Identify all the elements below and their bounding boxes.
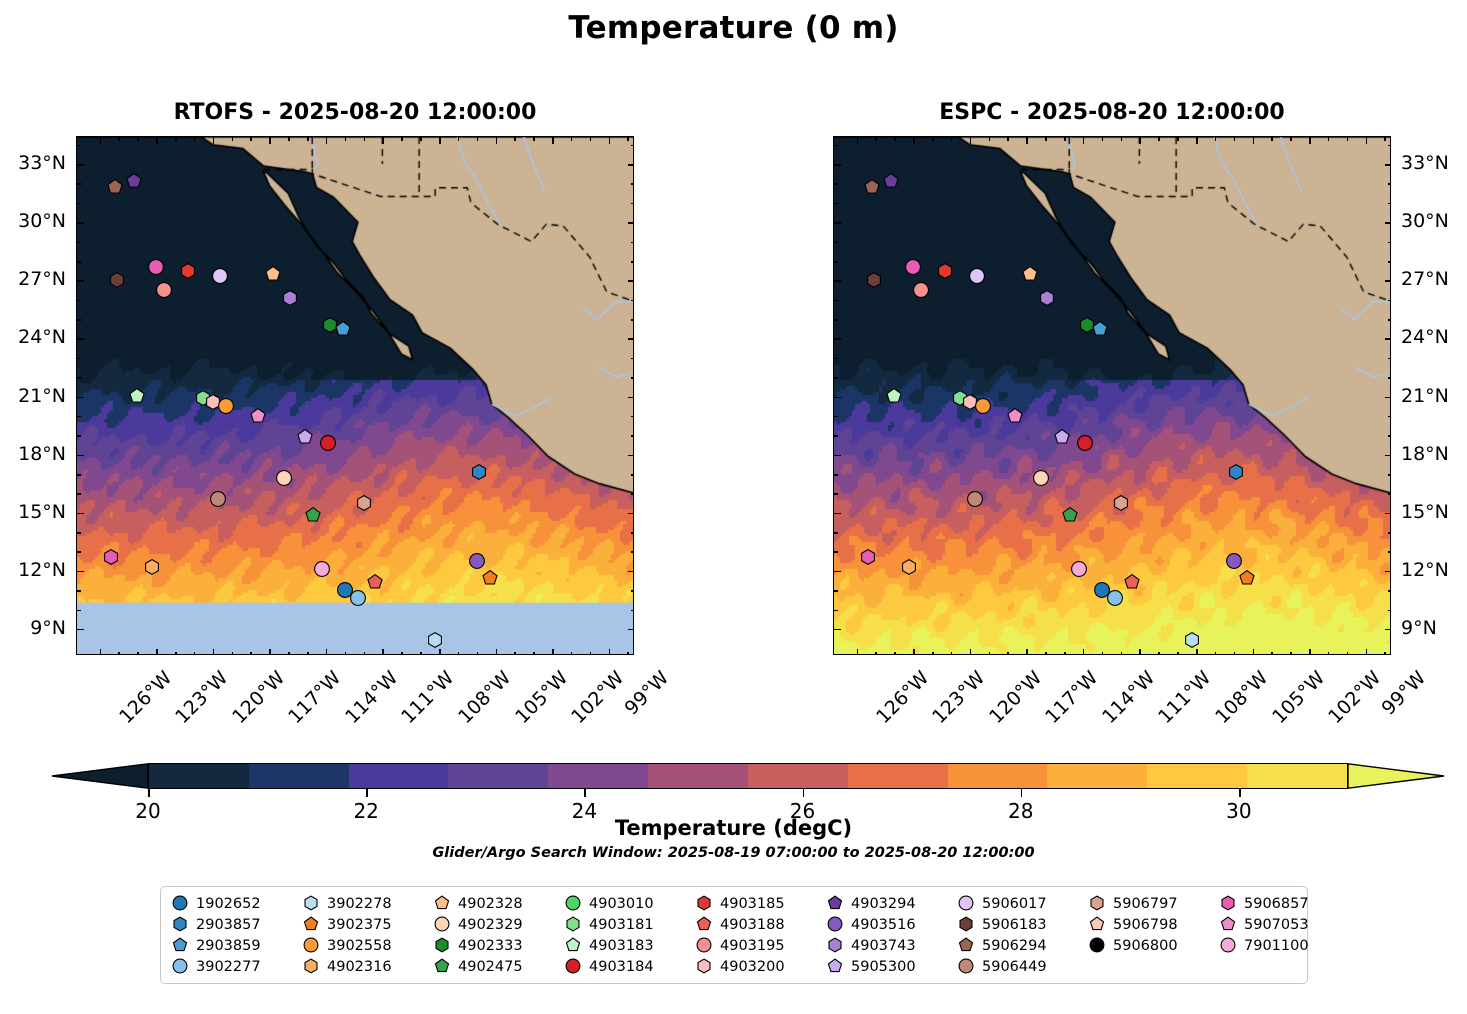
axis-tick <box>77 183 81 185</box>
axis-tick <box>77 280 84 282</box>
platform-marker[interactable] <box>1112 494 1129 515</box>
platform-marker[interactable] <box>1033 469 1050 490</box>
legend-item-label: 4903294 <box>851 896 916 912</box>
longitude-axis-espc: 126°W123°W120°W117°W114°W111°W108°W105°W… <box>833 656 1391 746</box>
axis-tick <box>77 300 81 302</box>
lon-tick-label: 114°W <box>1098 667 1159 728</box>
legend-item[interactable]: 5906798 <box>1087 914 1218 935</box>
axis-tick <box>1234 137 1236 141</box>
axis-tick <box>1309 137 1311 144</box>
legend-item[interactable]: 4903181 <box>563 914 694 935</box>
lon-tick-label: 123°W <box>928 667 989 728</box>
legend-item[interactable]: 3902278 <box>301 893 432 914</box>
legend-item-label: 3902278 <box>327 896 392 912</box>
legend-item-label: 5905300 <box>851 959 916 975</box>
axis-tick <box>834 455 841 457</box>
legend-marker-icon <box>1218 935 1239 956</box>
axis-tick <box>77 261 81 263</box>
lon-tick-label: 105°W <box>511 667 572 728</box>
legend-item[interactable]: 5906797 <box>1087 893 1218 914</box>
axis-tick <box>156 137 158 144</box>
legend-marker-icon <box>825 935 846 956</box>
legend-item[interactable]: 4903743 <box>825 935 956 956</box>
legend-marker-icon <box>1218 893 1239 914</box>
lon-tick-label: 117°W <box>1041 667 1102 728</box>
colorbar-tick <box>148 789 150 797</box>
axis-tick <box>77 358 81 360</box>
platform-marker[interactable] <box>349 589 366 610</box>
axis-tick <box>1007 137 1009 141</box>
platform-marker[interactable] <box>108 272 125 293</box>
colorbar-segment <box>149 764 249 788</box>
platform-marker[interactable] <box>1022 266 1039 287</box>
axis-tick <box>834 203 838 205</box>
axis-tick <box>834 532 838 534</box>
axis-tick <box>834 338 841 340</box>
axis-tick <box>1253 137 1255 144</box>
platform-marker[interactable] <box>865 272 882 293</box>
platform-marker[interactable] <box>974 398 991 419</box>
legend-item[interactable]: 5906017 <box>956 893 1087 914</box>
legend-item[interactable]: 4903010 <box>563 893 694 914</box>
axis-tick <box>194 137 196 141</box>
axis-tick <box>77 397 84 399</box>
platform-marker[interactable] <box>319 434 336 455</box>
lon-tick-label: 126°W <box>115 667 176 728</box>
legend-item-label: 4902475 <box>458 959 523 975</box>
axis-tick <box>77 513 84 515</box>
platform-marker[interactable] <box>217 398 234 419</box>
legend-column: 4903185490318849031954903200 <box>694 893 825 977</box>
colorbar-segment <box>1147 764 1247 788</box>
legend-marker-icon <box>432 956 453 977</box>
platform-marker[interactable] <box>905 258 922 279</box>
axis-tick <box>307 137 309 141</box>
platform-marker[interactable] <box>1227 463 1244 484</box>
axis-tick <box>77 164 84 166</box>
legend-item-label: 4903200 <box>720 959 785 975</box>
axis-tick <box>77 571 84 573</box>
longitude-axis-rtofs: 126°W123°W120°W117°W114°W111°W108°W105°W… <box>76 656 634 746</box>
axis-tick <box>951 137 953 141</box>
legend-item[interactable]: 4903185 <box>694 893 825 914</box>
platform-marker[interactable] <box>1006 407 1023 428</box>
axis-tick <box>77 222 84 224</box>
legend-item-label: 4903185 <box>720 896 785 912</box>
axis-tick <box>77 416 81 418</box>
platform-marker[interactable] <box>859 549 876 570</box>
platform-marker[interactable] <box>1123 574 1140 595</box>
legend-item[interactable]: 5906183 <box>956 914 1087 935</box>
legend-marker-icon <box>563 893 584 914</box>
platform-marker[interactable] <box>314 560 331 581</box>
axis-tick <box>77 319 81 321</box>
axis-tick <box>1177 137 1179 141</box>
axis-tick <box>834 319 838 321</box>
axis-tick <box>77 203 81 205</box>
legend-item[interactable]: 4903184 <box>563 956 694 977</box>
colorbar-tick <box>803 789 805 797</box>
lat-tick-label: 30°N <box>1401 210 1449 232</box>
axis-tick <box>834 571 841 573</box>
axis-tick <box>382 137 384 144</box>
colorbar-segment <box>1247 764 1347 788</box>
legend-item[interactable]: 5906800 <box>1087 935 1218 956</box>
lon-tick-label: 114°W <box>341 667 402 728</box>
legend-item-label: 4903183 <box>589 938 654 954</box>
colorbar-segment <box>648 764 748 788</box>
axis-tick <box>1366 137 1368 144</box>
axis-tick <box>77 551 81 553</box>
axis-tick <box>834 164 841 166</box>
platform-marker[interactable] <box>155 281 172 302</box>
panel-rtofs: RTOFS - 2025-08-20 12:00:00 <box>76 136 634 655</box>
platform-marker[interactable] <box>1054 429 1071 450</box>
legend-item[interactable]: 4902316 <box>301 956 432 977</box>
axis-tick <box>552 137 554 144</box>
platform-marker[interactable] <box>249 407 266 428</box>
legend-item-label: 4903010 <box>589 896 654 912</box>
legend-marker-icon <box>694 914 715 935</box>
axis-tick <box>1384 137 1386 141</box>
legend-marker-icon <box>956 935 977 956</box>
lat-tick-label: 30°N <box>18 210 66 232</box>
legend-item-label: 5907053 <box>1244 917 1309 933</box>
platform-marker[interactable] <box>882 173 899 194</box>
axis-tick <box>932 137 934 141</box>
legend-column: 1902652290385729038593902277 <box>170 893 301 977</box>
axis-tick <box>609 137 611 144</box>
axis-tick <box>1102 137 1104 141</box>
legend-item[interactable]: 4903183 <box>563 935 694 956</box>
platform-marker[interactable] <box>144 558 161 579</box>
legend-marker-icon <box>432 914 453 935</box>
legend-item-label: 3902375 <box>327 917 392 933</box>
lon-tick-label: 111°W <box>1154 667 1215 728</box>
legend-marker-icon <box>563 956 584 977</box>
platform-marker[interactable] <box>180 262 197 283</box>
legend-item-label: 5906294 <box>982 938 1047 954</box>
lon-tick-label: 99°W <box>1377 667 1430 720</box>
latitude-axis-right: 33°N30°N27°N24°N21°N18°N15°N12°N9°N <box>1391 136 1467 655</box>
lat-tick-label: 24°N <box>18 326 66 348</box>
platform-marker[interactable] <box>470 463 487 484</box>
legend-item-label: 5906800 <box>1113 938 1178 954</box>
axis-tick <box>77 377 81 379</box>
platform-marker[interactable] <box>265 266 282 287</box>
legend-marker-icon <box>825 956 846 977</box>
axis-tick <box>1045 137 1047 141</box>
legend-item-label: 5906017 <box>982 896 1047 912</box>
search-window-subtitle: Glider/Argo Search Window: 2025-08-19 07… <box>0 845 1467 861</box>
axis-tick <box>477 137 479 141</box>
platform-marker[interactable] <box>210 491 227 512</box>
axis-tick <box>175 137 177 141</box>
legend-marker-icon <box>956 914 977 935</box>
map-canvas-espc[interactable] <box>833 136 1391 655</box>
legend-marker-icon <box>170 956 191 977</box>
legend-marker-icon <box>170 893 191 914</box>
platform-marker[interactable] <box>1076 434 1093 455</box>
colorbar-tick <box>1021 789 1023 797</box>
legend-marker-icon <box>170 935 191 956</box>
platform-marker[interactable] <box>937 262 954 283</box>
legend-marker-icon <box>301 956 322 977</box>
platform-marker[interactable] <box>276 469 293 490</box>
colorbar-segment <box>448 764 548 788</box>
axis-tick <box>894 137 896 141</box>
platform-marker[interactable] <box>481 570 498 591</box>
panel-espc-title: ESPC - 2025-08-20 12:00:00 <box>833 100 1391 125</box>
axis-tick <box>627 137 629 141</box>
colorbar-under-arrow <box>52 763 148 789</box>
axis-tick <box>118 137 120 141</box>
colorbar-segment <box>748 764 848 788</box>
legend-item-label: 5906798 <box>1113 917 1178 933</box>
platform-marker[interactable] <box>148 258 165 279</box>
panel-espc: ESPC - 2025-08-20 12:00:00 <box>833 136 1391 655</box>
axis-tick <box>875 137 877 141</box>
legend-item-label: 4903195 <box>720 938 785 954</box>
lat-tick-label: 15°N <box>18 501 66 523</box>
axis-tick <box>77 455 84 457</box>
legend-marker-icon <box>301 893 322 914</box>
colorbar-ticks: 202224262830 <box>26 789 1441 819</box>
axis-tick <box>345 137 347 141</box>
lon-tick-label: 120°W <box>228 667 289 728</box>
platform-marker[interactable] <box>129 388 146 409</box>
legend-item[interactable]: 4902333 <box>432 935 563 956</box>
legend-item-label: 4902316 <box>327 959 392 975</box>
legend-marker-icon <box>825 893 846 914</box>
legend-item[interactable]: 4902475 <box>432 956 563 977</box>
legend-item-label: 4903188 <box>720 917 785 933</box>
axis-tick <box>989 137 991 141</box>
lon-tick-label: 108°W <box>454 667 515 728</box>
legend-item[interactable]: 7901100 <box>1218 935 1349 956</box>
axis-tick <box>77 610 81 612</box>
legend-item[interactable]: 3902277 <box>170 956 301 977</box>
platform-marker[interactable] <box>969 268 986 289</box>
legend-column: 3902278390237539025584902316 <box>301 893 432 977</box>
legend-item[interactable]: 5906294 <box>956 935 1087 956</box>
axis-tick <box>834 590 838 592</box>
legend-item[interactable]: 5906857 <box>1218 893 1349 914</box>
lon-tick-label: 126°W <box>872 667 933 728</box>
legend-item-label: 5906449 <box>982 959 1047 975</box>
axis-tick <box>439 137 441 144</box>
axis-tick <box>1196 137 1198 144</box>
platform-marker[interactable] <box>1238 570 1255 591</box>
legend-column: 5906017590618359062945906449 <box>956 893 1087 977</box>
legend-item-label: 5906797 <box>1113 896 1178 912</box>
axis-tick <box>834 513 841 515</box>
axis-tick <box>288 137 290 141</box>
legend-marker-icon <box>1218 914 1239 935</box>
colorbar-over-arrow <box>1348 763 1444 789</box>
legend-item[interactable]: 4903294 <box>825 893 956 914</box>
legend-item-label: 5906183 <box>982 917 1047 933</box>
platform-marker[interactable] <box>106 179 123 200</box>
platform-marker[interactable] <box>1061 506 1078 527</box>
lat-tick-label: 18°N <box>18 443 66 465</box>
platform-marker[interactable] <box>304 506 321 527</box>
lat-tick-label: 12°N <box>18 559 66 581</box>
colorbar: 202224262830 <box>26 763 1441 789</box>
axis-tick <box>458 137 460 141</box>
axis-tick <box>100 137 102 144</box>
axis-tick <box>834 629 841 631</box>
axis-tick <box>834 242 838 244</box>
platform-marker[interactable] <box>1091 320 1108 341</box>
platform-marker[interactable] <box>1184 632 1201 653</box>
platform-marker[interactable] <box>366 574 383 595</box>
legend-item[interactable]: 2903859 <box>170 935 301 956</box>
colorbar-segment <box>548 764 648 788</box>
axis-tick <box>1064 137 1066 141</box>
lat-tick-label: 27°N <box>18 268 66 290</box>
axis-tick <box>1215 137 1217 141</box>
axis-tick <box>533 137 535 141</box>
legend-item[interactable]: 4903516 <box>825 914 956 935</box>
legend-column: 4903294490351649037435905300 <box>825 893 956 977</box>
legend-marker-icon <box>563 935 584 956</box>
legend-column: 4902328490232949023334902475 <box>432 893 563 977</box>
lat-tick-label: 33°N <box>1401 152 1449 174</box>
lat-tick-label: 9°N <box>30 617 66 639</box>
axis-tick <box>213 137 215 144</box>
legend-item[interactable]: 3902375 <box>301 914 432 935</box>
axis-tick <box>834 183 838 185</box>
legend-marker-icon <box>694 956 715 977</box>
legend-item[interactable]: 3902558 <box>301 935 432 956</box>
axis-tick <box>834 300 838 302</box>
legend-column: 590679759067985906800 <box>1087 893 1218 977</box>
platform-marker[interactable] <box>1106 589 1123 610</box>
platform-marker[interactable] <box>1039 289 1056 310</box>
legend-item[interactable]: 5905300 <box>825 956 956 977</box>
colorbar-segment <box>1047 764 1147 788</box>
lon-tick-label: 120°W <box>985 667 1046 728</box>
platform-marker[interactable] <box>886 388 903 409</box>
axis-tick <box>1083 137 1085 144</box>
axis-tick <box>1158 137 1160 141</box>
platform-marker[interactable] <box>427 632 444 653</box>
axis-tick <box>834 551 838 553</box>
axis-tick <box>834 377 838 379</box>
axis-tick <box>77 242 81 244</box>
platform-marker[interactable] <box>102 549 119 570</box>
legend-marker-icon <box>956 893 977 914</box>
platform-marker[interactable] <box>355 494 372 515</box>
axis-tick <box>401 137 403 141</box>
legend-item[interactable]: 5906449 <box>956 956 1087 977</box>
colorbar-segment <box>249 764 349 788</box>
legend-item-label: 4903184 <box>589 959 654 975</box>
axis-tick <box>913 137 915 144</box>
axis-tick <box>77 474 81 476</box>
axis-tick <box>420 137 422 141</box>
legend-item-label: 4902333 <box>458 938 523 954</box>
platform-marker[interactable] <box>282 289 299 310</box>
legend-marker-icon <box>563 914 584 935</box>
lon-tick-label: 102°W <box>567 667 628 728</box>
legend-item[interactable]: 4902328 <box>432 893 563 914</box>
lon-tick-label: 117°W <box>284 667 345 728</box>
axis-tick <box>1271 137 1273 141</box>
axis-tick <box>496 137 498 144</box>
legend-marker-icon <box>301 935 322 956</box>
legend-column: 4903010490318149031834903184 <box>563 893 694 977</box>
legend-marker-icon <box>694 893 715 914</box>
map-canvas-rtofs[interactable] <box>76 136 634 655</box>
legend-item[interactable]: 4902329 <box>432 914 563 935</box>
legend-item[interactable]: 1902652 <box>170 893 301 914</box>
axis-tick <box>1290 137 1292 141</box>
axis-tick <box>514 137 516 141</box>
legend-item-label: 4903181 <box>589 917 654 933</box>
legend-item[interactable]: 2903857 <box>170 914 301 935</box>
lat-tick-label: 33°N <box>18 152 66 174</box>
legend-item[interactable]: 4903195 <box>694 935 825 956</box>
lat-tick-label: 12°N <box>1401 559 1449 581</box>
legend-item-label: 4903516 <box>851 917 916 933</box>
axis-tick <box>857 137 859 144</box>
colorbar-tick <box>366 789 368 797</box>
legend-marker-icon <box>1087 914 1108 935</box>
axis-tick <box>834 280 841 282</box>
axis-tick <box>834 435 838 437</box>
platform-marker[interactable] <box>297 429 314 450</box>
platform-marker[interactable] <box>901 558 918 579</box>
legend-item[interactable]: 4903200 <box>694 956 825 977</box>
platform-marker[interactable] <box>967 491 984 512</box>
platform-marker[interactable] <box>212 268 229 289</box>
colorbar-segment <box>349 764 449 788</box>
lon-tick-label: 105°W <box>1268 667 1329 728</box>
axis-tick <box>1139 137 1141 144</box>
legend-item[interactable]: 4903188 <box>694 914 825 935</box>
legend-item-label: 4902329 <box>458 917 523 933</box>
colorbar-segment <box>948 764 1048 788</box>
axis-tick <box>77 629 84 631</box>
lon-tick-label: 111°W <box>397 667 458 728</box>
colorbar-gradient <box>148 763 1348 789</box>
platform-marker[interactable] <box>863 179 880 200</box>
colorbar-segment <box>848 764 948 788</box>
legend-item-label: 2903857 <box>196 917 261 933</box>
axis-tick <box>77 435 81 437</box>
legend-item-label: 3902558 <box>327 938 392 954</box>
axis-tick <box>77 145 81 147</box>
legend-item[interactable]: 5907053 <box>1218 914 1349 935</box>
legend-marker-icon <box>170 914 191 935</box>
axis-tick <box>1347 137 1349 141</box>
platform-marker[interactable] <box>912 281 929 302</box>
lon-tick-label: 102°W <box>1324 667 1385 728</box>
legend-item-label: 3902277 <box>196 959 261 975</box>
axis-tick <box>834 493 838 495</box>
platform-marker[interactable] <box>125 173 142 194</box>
axis-tick <box>834 397 841 399</box>
axis-tick <box>590 137 592 141</box>
platform-marker[interactable] <box>1071 560 1088 581</box>
axis-tick <box>269 137 271 144</box>
axis-tick <box>1328 137 1330 141</box>
platform-marker[interactable] <box>334 320 351 341</box>
lat-tick-label: 18°N <box>1401 443 1449 465</box>
legend-marker-icon <box>1087 935 1108 956</box>
